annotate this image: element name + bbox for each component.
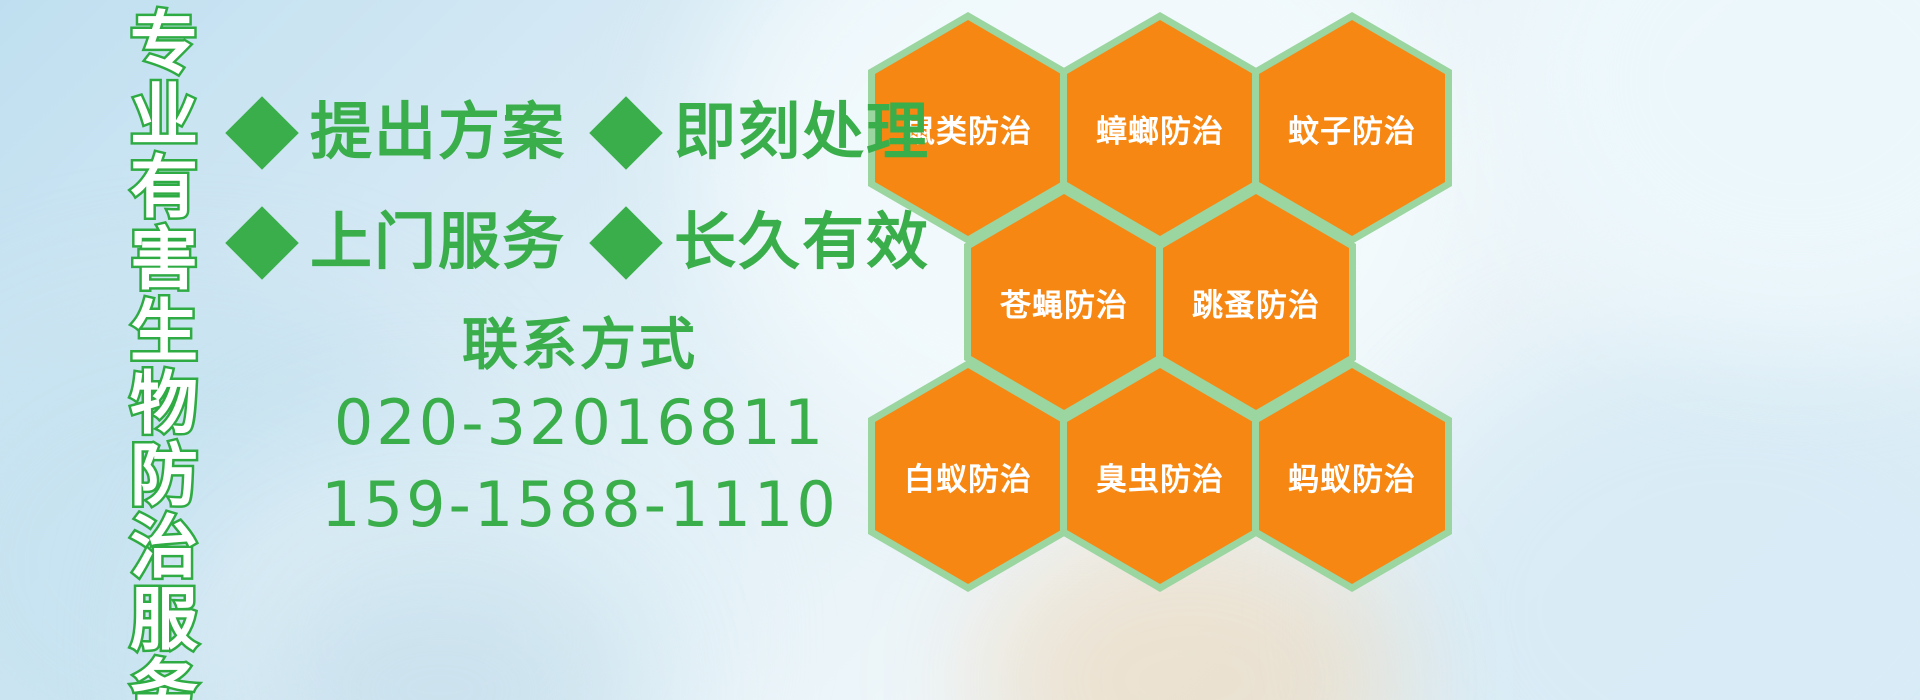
vertical-headline-char: 有 [130,152,198,224]
feature-item-propose-plan: 提出方案 [236,102,566,164]
service-label: 臭虫防治 [1096,454,1224,499]
feature-item-onsite-service: 上门服务 [236,212,566,274]
service-hexagon-grid: 鼠类防治 蟑螂防治 蚊子防治 苍蝇防治 跳蚤防治 白蚁防治 [856,4,1456,564]
diamond-bullet-icon [589,206,663,280]
feature-label: 长久有效 [674,212,930,274]
vertical-headline-char: 业 [130,80,198,152]
vertical-headline-char: 治 [130,512,198,584]
background-blob [1380,330,1920,700]
vertical-headline-char: 专 [130,8,198,80]
service-label: 苍蝇防治 [1000,280,1128,325]
feature-label: 上门服务 [310,212,566,274]
feature-list: 提出方案 即刻处理 上门服务 长久有效 [236,78,930,298]
vertical-headline-char: 务 [130,656,198,700]
vertical-headline-char: 服 [130,584,198,656]
service-label: 蟑螂防治 [1096,106,1224,151]
feature-label: 提出方案 [310,102,566,164]
vertical-headline-char: 物 [130,368,198,440]
diamond-bullet-icon [589,96,663,170]
contact-block: 联系方式 020-32016811 159-1588-1110 [300,308,860,546]
vertical-headline-char: 生 [130,296,198,368]
service-label: 蚂蚁防治 [1288,454,1416,499]
background-blob [250,560,630,700]
hex-inner: 苍蝇防治 [971,194,1157,410]
feature-item-immediate-action: 即刻处理 [600,102,930,164]
vertical-headline-char: 害 [130,224,198,296]
vertical-headline-char: 防 [130,440,198,512]
phone-number-mobile[interactable]: 159-1588-1110 [300,464,860,546]
diamond-bullet-icon [225,206,299,280]
service-label: 白蚁防治 [904,454,1032,499]
diamond-bullet-icon [225,96,299,170]
service-label: 跳蚤防治 [1192,280,1320,325]
phone-number-landline[interactable]: 020-32016811 [300,382,860,464]
hex-inner: 蚊子防治 [1259,20,1445,236]
hex-inner: 跳蚤防治 [1163,194,1349,410]
pest-control-banner: 专 业 有 害 生 物 防 治 服 务 提出方案 即刻处理 上门服务 [0,0,1920,700]
hex-inner: 蟑螂防治 [1067,20,1253,236]
background-blob [1500,0,1920,340]
hex-inner: 白蚁防治 [875,368,1061,584]
vertical-headline: 专 业 有 害 生 物 防 治 服 务 [112,8,216,592]
hex-inner: 蚂蚁防治 [1259,368,1445,584]
service-label: 蚊子防治 [1288,106,1416,151]
feature-row: 上门服务 长久有效 [236,188,930,298]
feature-label: 即刻处理 [674,102,930,164]
feature-item-long-lasting: 长久有效 [600,212,930,274]
hex-inner: 臭虫防治 [1067,368,1253,584]
feature-row: 提出方案 即刻处理 [236,78,930,188]
contact-title: 联系方式 [300,308,860,382]
